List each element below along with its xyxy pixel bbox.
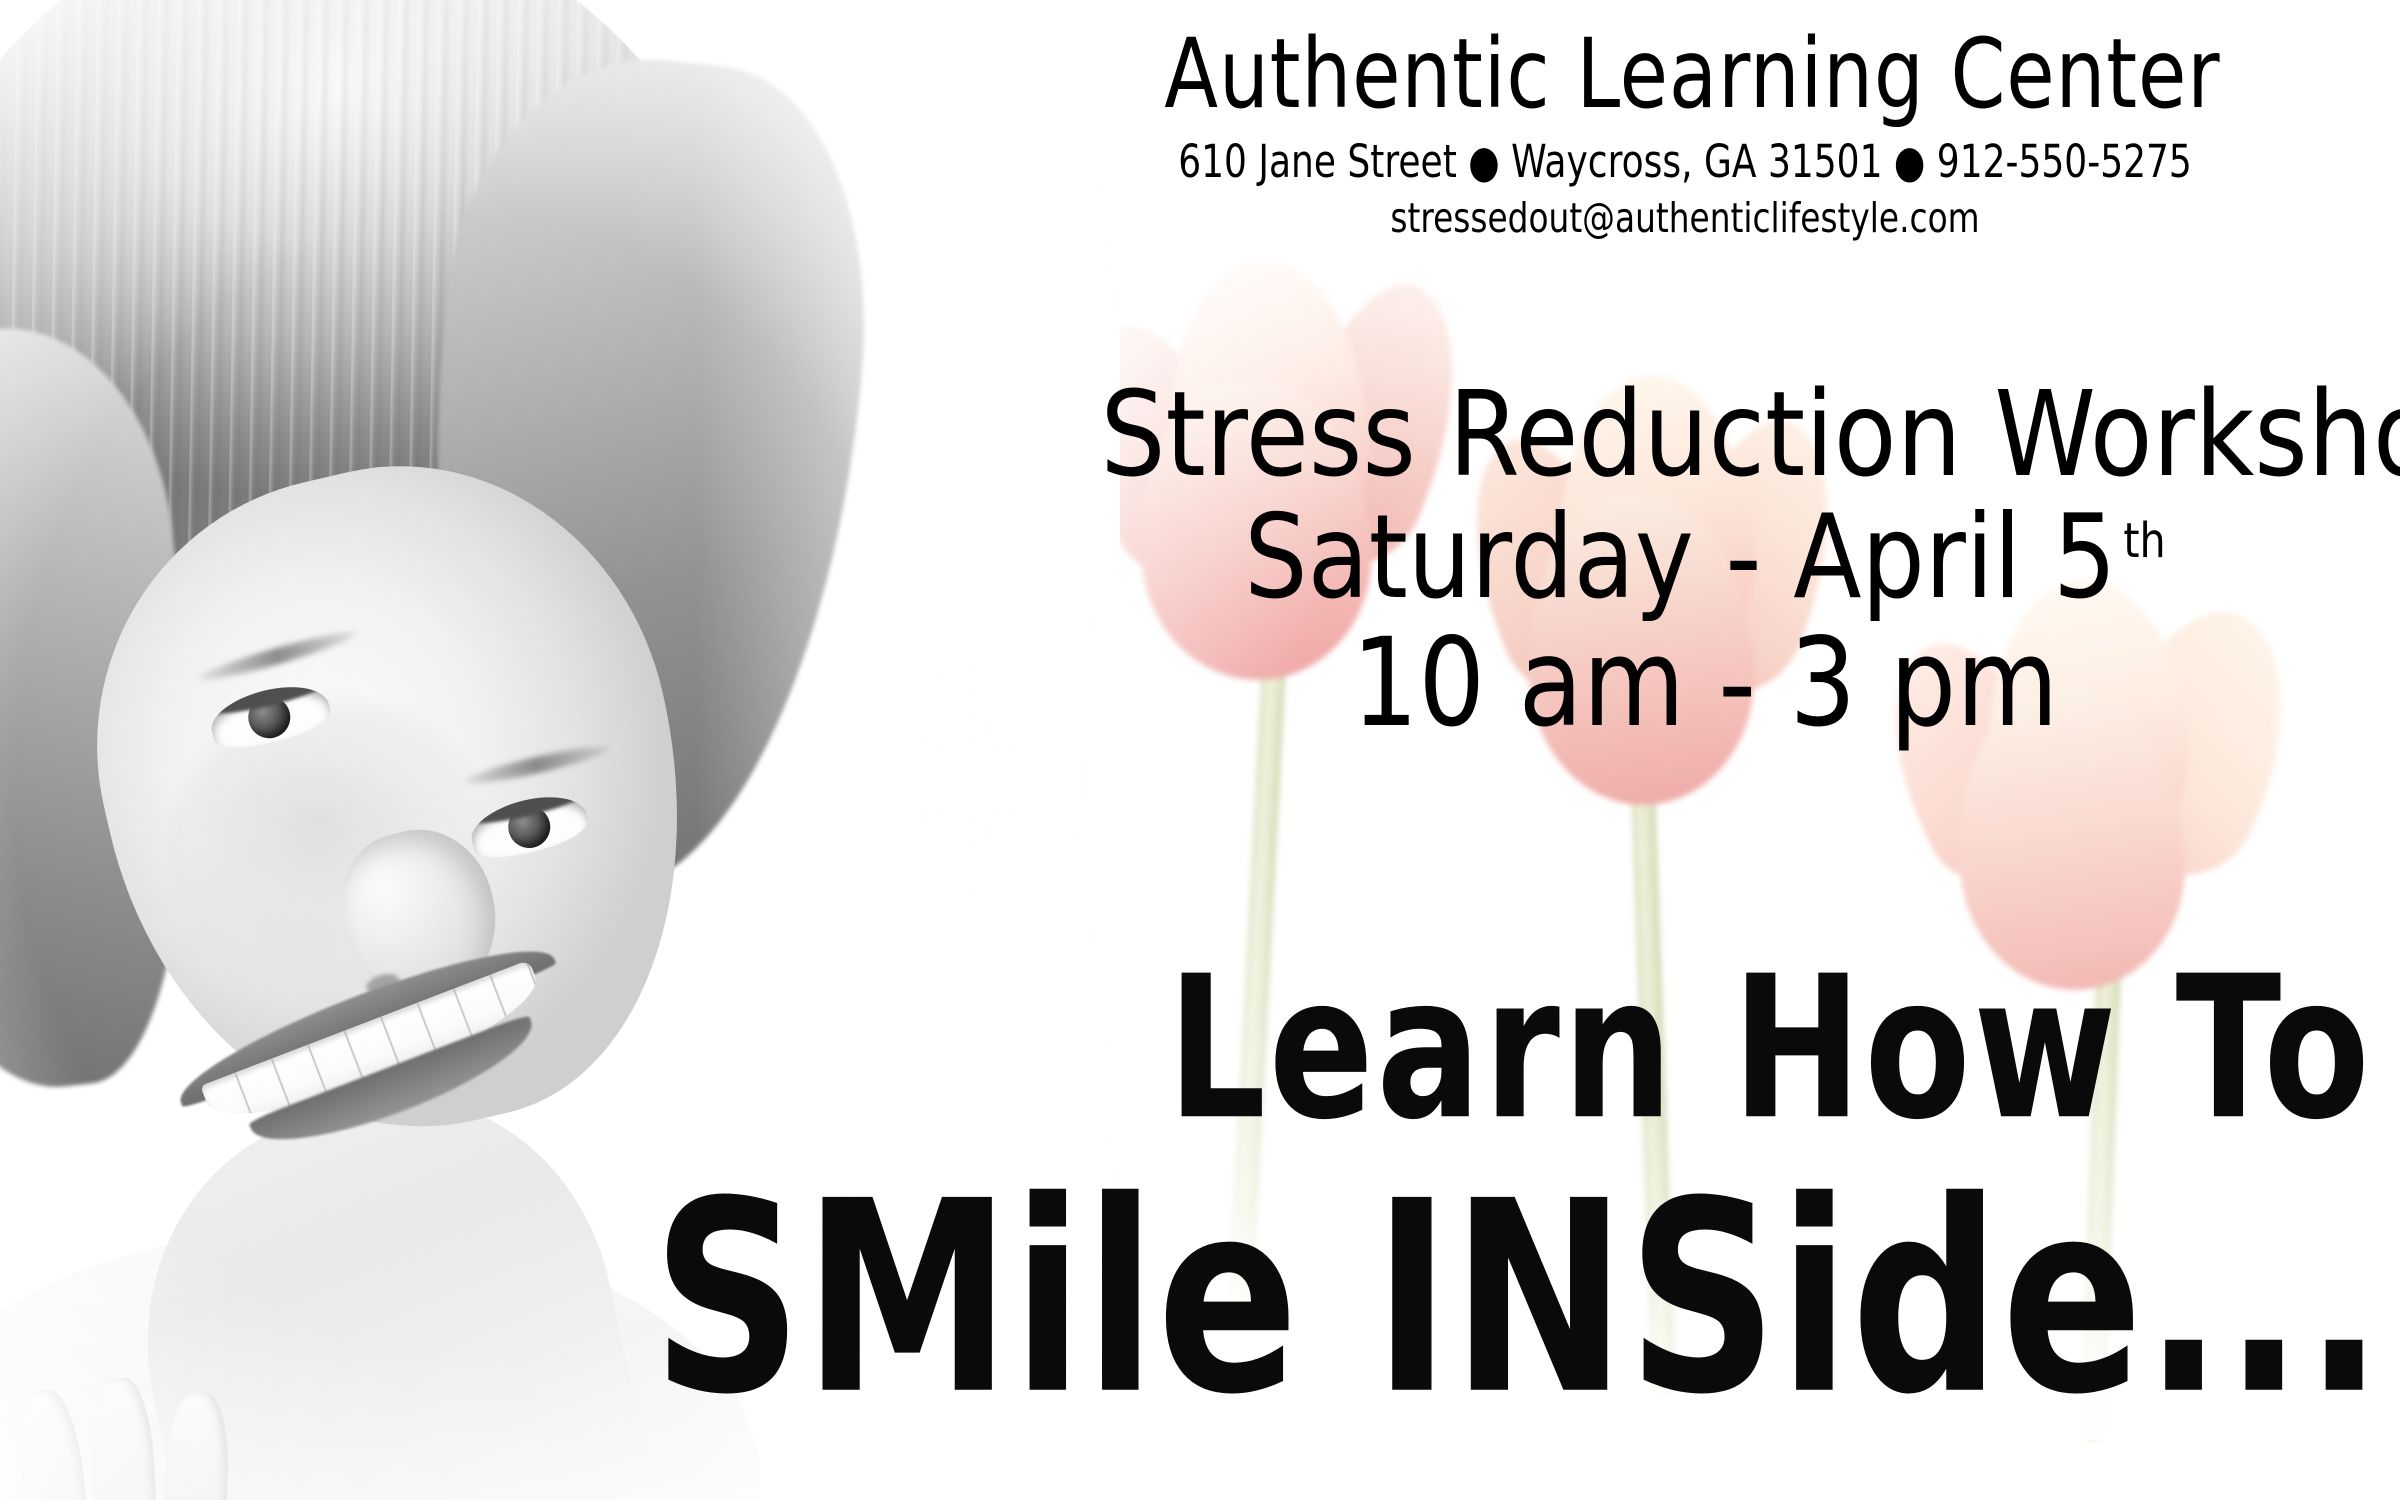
tagline-line-2: SMile INSide... bbox=[626, 1172, 2390, 1426]
poster-canvas: Authentic Learning Center 610 Jane Stree… bbox=[0, 0, 2400, 1500]
event-time: 10 am - 3 pm bbox=[1107, 621, 2302, 745]
event-block: Stress Reduction Workshop Saturday - Apr… bbox=[1010, 375, 2400, 746]
poster-text: Authentic Learning Center 610 Jane Stree… bbox=[0, 0, 2400, 1500]
organization-address: 610 Jane Street ● Waycross, GA 31501 ● 9… bbox=[1177, 134, 2193, 190]
event-date: Saturday - April 5th bbox=[1107, 499, 2302, 617]
organization-email: stressedout@authenticlifestyle.com bbox=[1177, 194, 2193, 243]
tagline-line-1: Learn How To bbox=[665, 955, 2390, 1144]
event-title: Stress Reduction Workshop bbox=[1100, 375, 2309, 493]
tagline-block: Learn How To SMile INSide... bbox=[430, 955, 2390, 1395]
organization-name: Authentic Learning Center bbox=[1164, 26, 2205, 124]
organization-block: Authentic Learning Center 610 Jane Stree… bbox=[1050, 26, 2320, 243]
event-date-text: Saturday - April 5 bbox=[1244, 490, 2116, 625]
event-date-suffix: th bbox=[2123, 513, 2165, 569]
